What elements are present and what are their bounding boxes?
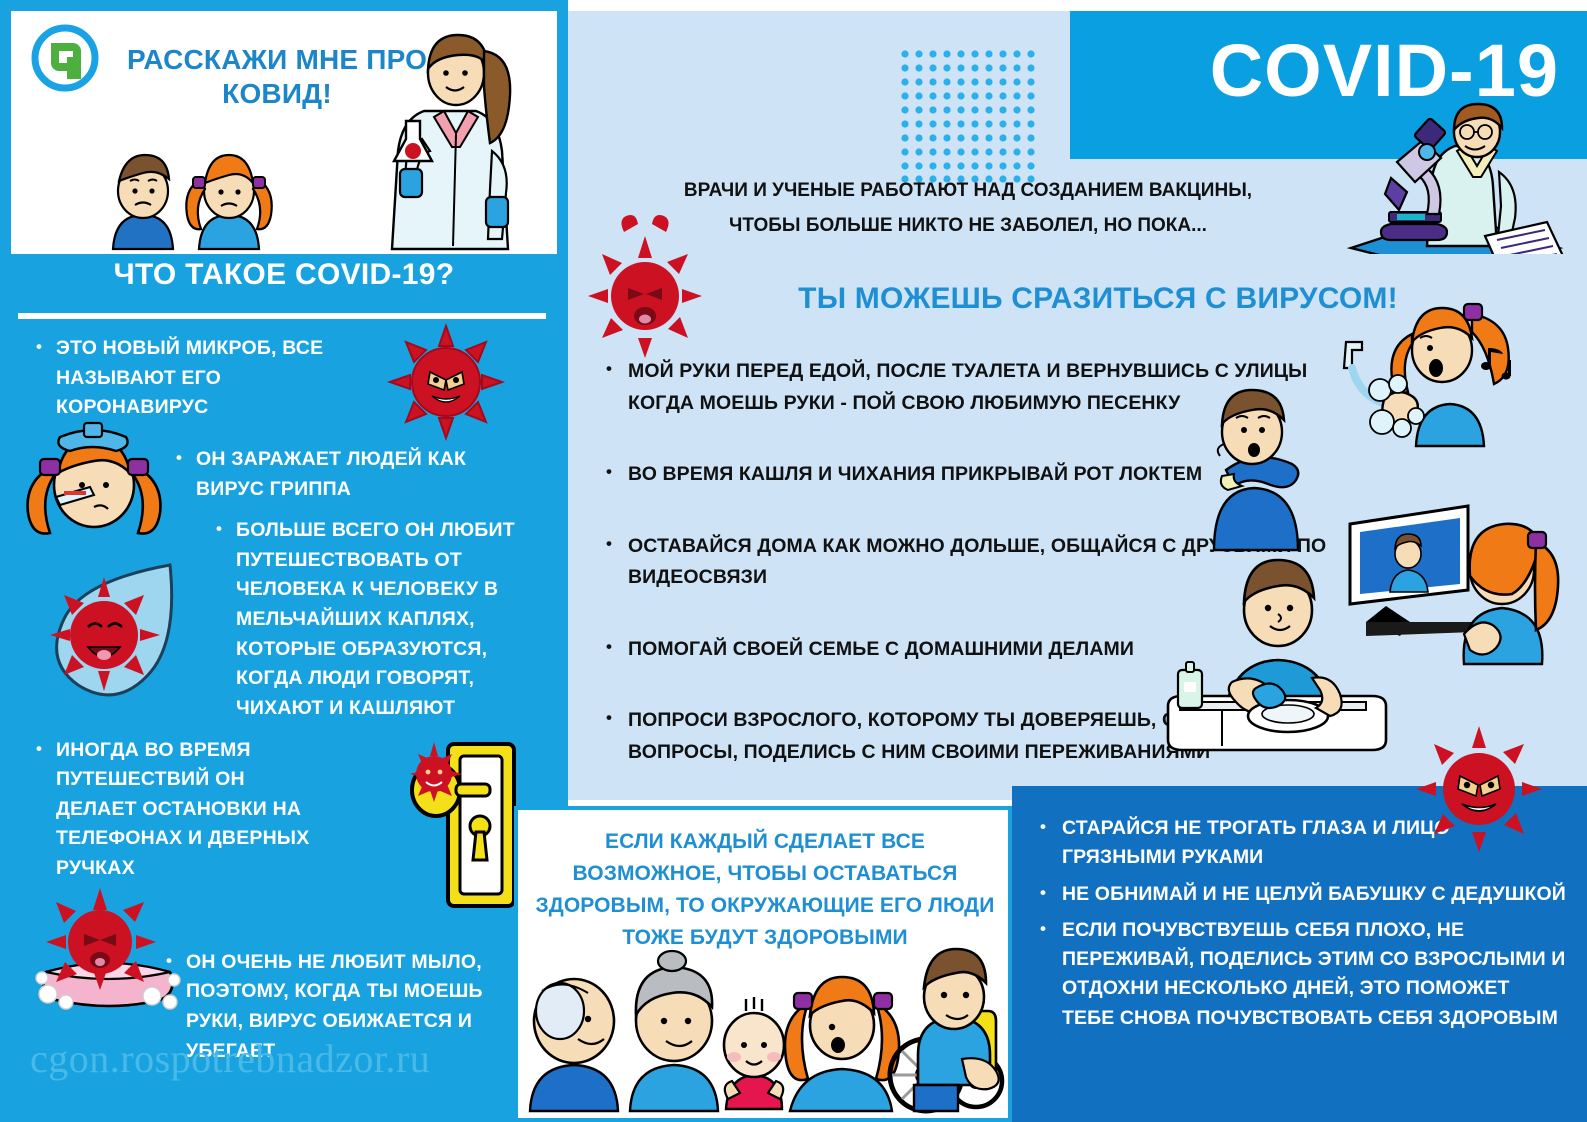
poster-root: РАССКАЖИ МНЕ ПРО КОВИД!: [0, 0, 1587, 1122]
bullet-glyph: •: [606, 633, 612, 661]
list-item-text: ВО ВРЕМЯ КАШЛЯ И ЧИХАНИЯ ПРИКРЫВАЙ РОТ Л…: [628, 463, 1202, 485]
list-item: • ЭТО НОВЫЙ МИКРОБ, ВСЕ НАЗЫВАЮТ ЕГО КОР…: [36, 334, 326, 423]
banner-text-line-1: ВРАЧИ И УЧЕНЫЕ РАБОТАЮТ НАД СОЗДАНИЕМ ВА…: [598, 173, 1338, 208]
female-doctor-with-flask-illustration: [366, 21, 546, 254]
bullet-glyph: •: [606, 530, 612, 558]
list-item-text: СТАРАЙСЯ НЕ ТРОГАТЬ ГЛАЗА И ЛИЦО ГРЯЗНЫМ…: [1062, 817, 1450, 868]
bullet-glyph: •: [1040, 880, 1046, 906]
list-item-text: ЭТО НОВЫЙ МИКРОБ, ВСЕ НАЗЫВАЮТ ЕГО КОРОН…: [56, 337, 323, 418]
list-item-text: ПОМОГАЙ СВОЕЙ СЕМЬЕ С ДОМАШНИМИ ДЕЛАМИ: [628, 638, 1134, 660]
list-item-text: ИНОГДА ВО ВРЕМЯ ПУТЕШЕСТВИЙ ОН ДЕЛАЕТ ОС…: [56, 739, 309, 880]
middle-panel: ТЫ МОЖЕШЬ СРАЗИТЬСЯ С ВИРУСОМ! • МОЙ РУК…: [568, 254, 1587, 800]
list-item: • НЕ ОБНИМАЙ И НЕ ЦЕЛУЙ БАБУШКУ С ДЕДУШК…: [1036, 880, 1566, 909]
boy-coughing-into-elbow-illustration: [1186, 384, 1336, 554]
list-item-text: ЕСЛИ ПОЧУВСТВУЕШЬ СЕБЯ ПЛОХО, НЕ ПЕРЕЖИВ…: [1062, 919, 1565, 1029]
heading-rule: [18, 313, 546, 319]
white-card-title: ЕСЛИ КАЖДЫЙ СДЕЛАЕТ ВСЕ ВОЗМОЖНОЕ, ЧТОБЫ…: [532, 826, 998, 954]
left-column: РАССКАЖИ МНЕ ПРО КОВИД!: [0, 0, 568, 1122]
left-section-heading: ЧТО ТАКОЕ COVID-19?: [11, 258, 557, 292]
top-banner: COVID-19 ВРАЧИ И УЧЕНЫЕ РАБОТАЮТ НАД СОЗ…: [568, 11, 1587, 254]
bullet-glyph: •: [1040, 814, 1046, 840]
watermark: cgon.rospotrebnadzor.ru: [30, 1035, 430, 1082]
bullet-glyph: •: [216, 516, 222, 542]
cgon-logo-icon: [28, 23, 102, 97]
white-summary-card: ЕСЛИ КАЖДЫЙ СДЕЛАЕТ ВСЕ ВОЗМОЖНОЕ, ЧТОБЫ…: [514, 806, 1012, 1122]
sneezing-coronavirus-illustration: [580, 232, 710, 362]
list-item: • ИНОГДА ВО ВРЕМЯ ПУТЕШЕСТВИЙ ОН ДЕЛАЕТ …: [36, 736, 326, 884]
scientist-with-microscope-illustration: [1327, 116, 1577, 276]
bullet-glyph: •: [606, 458, 612, 486]
boy-washing-dishes-illustration: [1160, 552, 1385, 762]
list-item-text: БОЛЬШЕ ВСЕГО ОН ЛЮБИТ ПУТЕШЕСТВОВАТЬ ОТ …: [236, 519, 515, 719]
virus-in-droplet-illustration: [38, 555, 182, 715]
bullet-glyph: •: [606, 355, 612, 383]
list-item: • БОЛЬШЕ ВСЕГО ОН ЛЮБИТ ПУТЕШЕСТВОВАТЬ О…: [216, 516, 546, 723]
bullet-glyph: •: [1040, 916, 1046, 942]
bullet-glyph: •: [36, 334, 42, 360]
bullet-glyph: •: [176, 445, 182, 471]
grinning-coronavirus-illustration: [1414, 724, 1544, 854]
bullet-glyph: •: [606, 704, 612, 732]
angry-coronavirus-illustration: [386, 322, 506, 442]
two-sad-children-illustration: [89, 129, 289, 254]
list-item-text: ОН ЗАРАЖАЕТ ЛЮДЕЙ КАК ВИРУС ГРИППА: [196, 448, 466, 500]
list-item: • ОН ЗАРАЖАЕТ ЛЮДЕЙ КАК ВИРУС ГРИППА: [176, 445, 536, 504]
list-item: • ЕСЛИ ПОЧУВСТВУЕШЬ СЕБЯ ПЛОХО, НЕ ПЕРЕЖ…: [1036, 916, 1566, 1033]
hero-card: РАССКАЖИ МНЕ ПРО КОВИД!: [11, 11, 557, 254]
bullet-glyph: •: [36, 736, 42, 762]
girl-washing-hands-singing-illustration: [1338, 294, 1538, 454]
sick-girl-with-thermometer-illustration: [14, 415, 174, 537]
family-group-illustration: [522, 949, 1008, 1114]
dot-grid-pattern-icon: [900, 49, 1036, 179]
virus-on-soap-bar-illustration: [28, 886, 188, 1016]
covid-brand-title: COVID-19: [1210, 28, 1559, 113]
list-item-text: НЕ ОБНИМАЙ И НЕ ЦЕЛУЙ БАБУШКУ С ДЕДУШКОЙ: [1062, 883, 1566, 905]
